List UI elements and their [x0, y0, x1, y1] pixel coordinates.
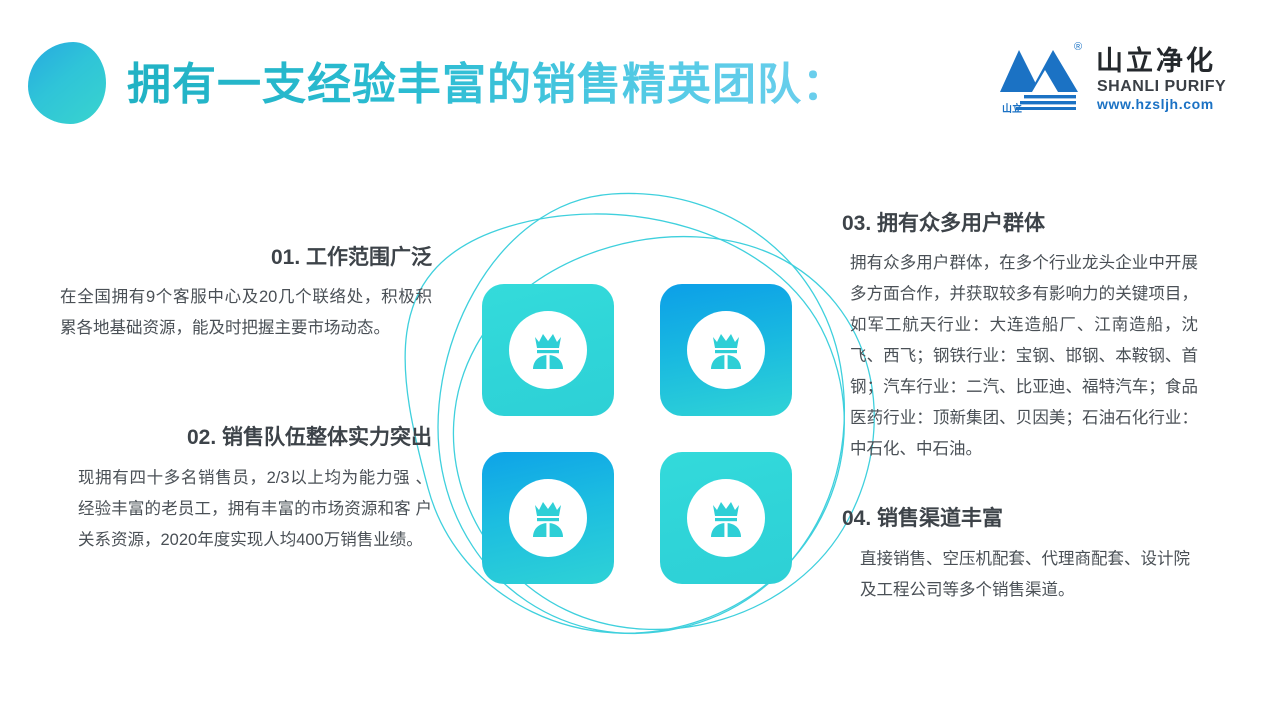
- section-02-body: 现拥有四十多名销售员，2/3以上均为能力强 、 经验丰富的老员工，拥有丰富的市场…: [60, 463, 432, 556]
- section-02-heading: 02. 销售队伍整体实力突出: [60, 424, 432, 452]
- logo-name-cn: 山立净化: [1096, 46, 1216, 76]
- section-03: 03. 拥有众多用户群体 拥有众多用户群体，在多个行业龙头企业中开展多方面合作，…: [838, 210, 1198, 465]
- tile-icon-circle: [509, 311, 587, 389]
- icon-tile-1[interactable]: [482, 284, 614, 416]
- icon-tile-3[interactable]: [482, 452, 614, 584]
- section-04: 04. 销售渠道丰富 直接销售、空压机配套、代理商配套、设计院及工程公司等多个销…: [838, 505, 1198, 606]
- section-03-body: 拥有众多用户群体，在多个行业龙头企业中开展多方面合作，并获取较多有影响力的关键项…: [838, 248, 1198, 465]
- logo-name-en: SHANLI PURIFY: [1097, 78, 1226, 96]
- tile-icon-circle: [687, 479, 765, 557]
- section-03-heading: 03. 拥有众多用户群体: [842, 210, 1198, 238]
- section-01: 01. 工作范围广泛 在全国拥有9个客服中心及20几个联络处，积极积累各地基础资…: [60, 244, 432, 344]
- crowned-person-icon: [703, 328, 749, 372]
- section-01-heading: 01. 工作范围广泛: [60, 244, 432, 272]
- crowned-person-icon: [525, 496, 571, 540]
- section-04-heading: 04. 销售渠道丰富: [842, 505, 1198, 533]
- crowned-person-icon: [703, 496, 749, 540]
- slide-canvas: 拥有一支经验丰富的销售精英团队： ® 山立 山立净化 SHANLI PURIFY…: [0, 0, 1280, 720]
- section-01-body: 在全国拥有9个客服中心及20几个联络处，积极积累各地基础资源，能及时把握主要市场…: [60, 282, 432, 344]
- crowned-person-icon: [525, 328, 571, 372]
- tile-icon-circle: [509, 479, 587, 557]
- company-logo: ® 山立 山立净化 SHANLI PURIFY www.hzsljh.com: [1000, 40, 1224, 116]
- registered-trademark-icon: ®: [1074, 42, 1082, 53]
- section-02: 02. 销售队伍整体实力突出 现拥有四十多名销售员，2/3以上均为能力强 、 经…: [60, 424, 432, 556]
- logo-mark-caption: 山立: [1002, 100, 1022, 115]
- logo-website: www.hzsljh.com: [1097, 96, 1214, 112]
- icon-tile-grid: [482, 284, 792, 584]
- icon-tile-4[interactable]: [660, 452, 792, 584]
- section-04-body: 直接销售、空压机配套、代理商配套、设计院及工程公司等多个销售渠道。: [838, 544, 1198, 606]
- icon-tile-2[interactable]: [660, 284, 792, 416]
- decorative-blob-shape: [28, 42, 106, 124]
- page-title: 拥有一支经验丰富的销售精英团队：: [127, 56, 847, 114]
- tile-icon-circle: [687, 311, 765, 389]
